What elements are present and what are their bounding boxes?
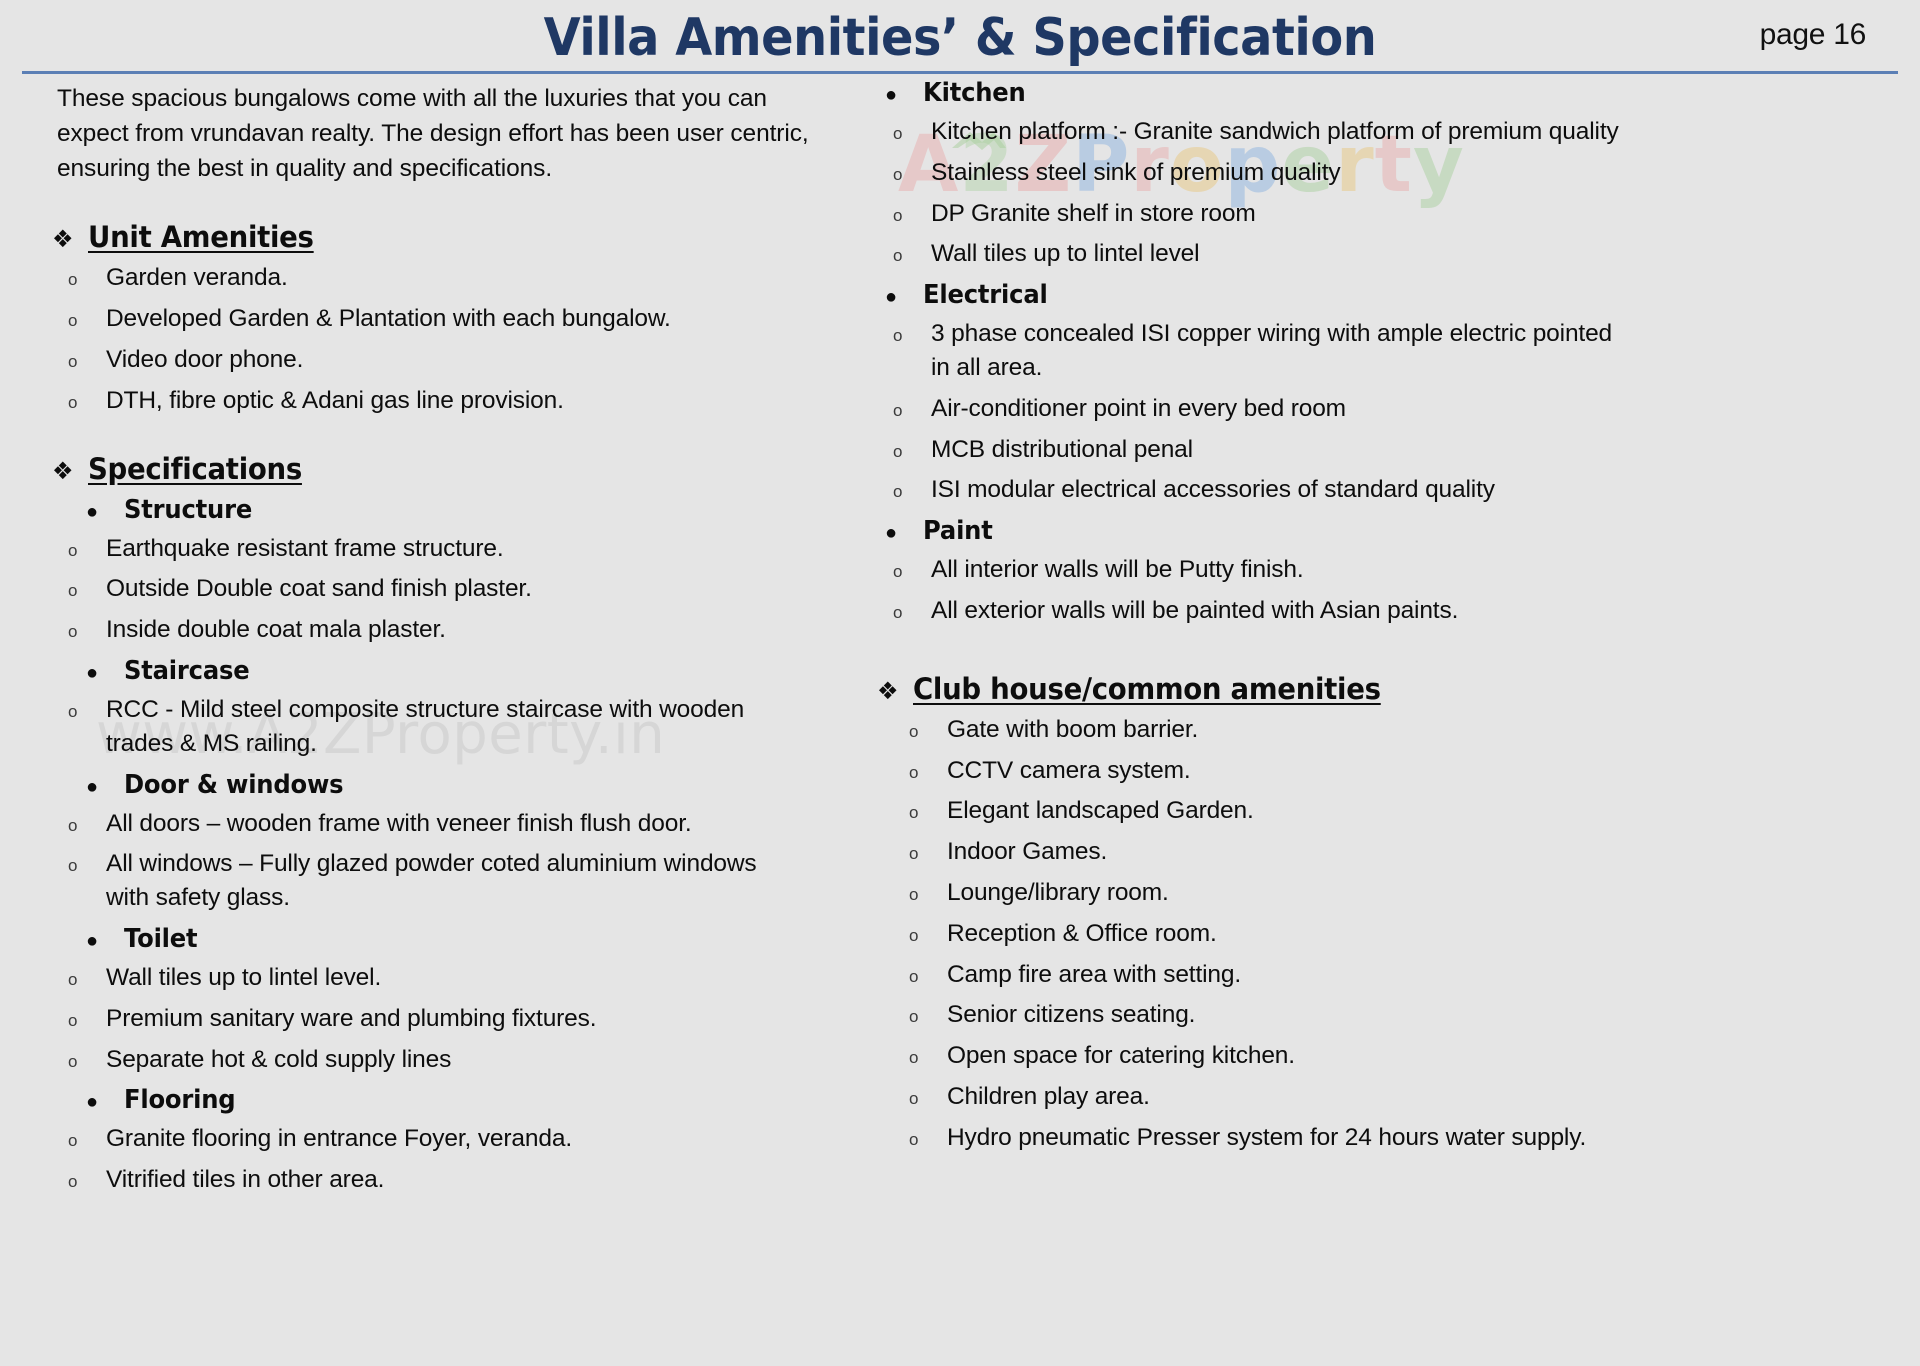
circle-bullet-icon: o bbox=[909, 723, 947, 740]
list-item-label: DTH, fibre optic & Adani gas line provis… bbox=[106, 384, 564, 418]
list-item: o Reception & Office room. bbox=[863, 917, 1920, 951]
intro-paragraph: These spacious bungalows come with all t… bbox=[57, 82, 757, 186]
list-item: o ISI modular electrical accessories of … bbox=[863, 473, 1920, 507]
subsection-heading-staircase: ● Staircase bbox=[52, 656, 845, 686]
circle-bullet-icon: o bbox=[893, 247, 931, 264]
list-item-label: Separate hot & cold supply lines bbox=[106, 1043, 451, 1077]
list-item: o Granite flooring in entrance Foyer, ve… bbox=[52, 1122, 845, 1156]
circle-bullet-icon: o bbox=[68, 353, 106, 370]
circle-bullet-icon: o bbox=[909, 886, 947, 903]
subsection-label: Kitchen bbox=[923, 78, 1026, 108]
list-item: o Outside Double coat sand finish plaste… bbox=[52, 572, 845, 606]
circle-bullet-icon: o bbox=[909, 927, 947, 944]
list-item-label: All interior walls will be Putty finish. bbox=[931, 553, 1304, 587]
disc-bullet-icon: ● bbox=[86, 502, 124, 522]
unit-amenities-heading-label: Unit Amenities bbox=[88, 220, 314, 254]
disc-bullet-icon: ● bbox=[86, 663, 124, 683]
list-item-label: Camp fire area with setting. bbox=[947, 958, 1241, 992]
circle-bullet-icon: o bbox=[68, 582, 106, 599]
subsection-heading-kitchen: ● Kitchen bbox=[863, 78, 1920, 108]
circle-bullet-icon: o bbox=[68, 271, 106, 288]
page-title: Villa Amenities’ & Specification bbox=[77, 0, 1843, 68]
circle-bullet-icon: o bbox=[909, 845, 947, 862]
subsection-label: Structure bbox=[124, 495, 252, 525]
list-item-label: All windows – Fully glazed powder coted … bbox=[106, 847, 786, 915]
list-item-label: Developed Garden & Plantation with each … bbox=[106, 302, 671, 336]
list-item: o Open space for catering kitchen. bbox=[863, 1039, 1920, 1073]
club-house-list: o Gate with boom barrier. o CCTV camera … bbox=[863, 713, 1920, 1155]
circle-bullet-icon: o bbox=[909, 1090, 947, 1107]
specifications-heading-label: Specifications bbox=[88, 452, 302, 486]
subsection-label: Door & windows bbox=[124, 770, 343, 800]
list-item: o Kitchen platform :- Granite sandwich p… bbox=[863, 115, 1920, 149]
disc-bullet-icon: ● bbox=[86, 777, 124, 797]
list-item-label: Vitrified tiles in other area. bbox=[106, 1163, 384, 1197]
list-item-label: Open space for catering kitchen. bbox=[947, 1039, 1295, 1073]
subsection-label: Flooring bbox=[124, 1085, 235, 1115]
list-item: o Stainless steel sink of premium qualit… bbox=[863, 156, 1920, 190]
subsection-label: Staircase bbox=[124, 656, 249, 686]
list-item: o Vitrified tiles in other area. bbox=[52, 1163, 845, 1197]
list-item: o Wall tiles up to lintel level bbox=[863, 237, 1920, 271]
list-item: o All exterior walls will be painted wit… bbox=[863, 594, 1920, 628]
list-item-label: Children play area. bbox=[947, 1080, 1150, 1114]
circle-bullet-icon: o bbox=[893, 207, 931, 224]
list-item: o DP Granite shelf in store room bbox=[863, 197, 1920, 231]
intro-line-2: expect from vrundavan realty. The design… bbox=[57, 117, 757, 152]
intro-line-3: ensuring the best in quality and specifi… bbox=[57, 152, 757, 187]
list-item-label: CCTV camera system. bbox=[947, 754, 1191, 788]
list-item: o Senior citizens seating. bbox=[863, 998, 1920, 1032]
list-item-label: Outside Double coat sand finish plaster. bbox=[106, 572, 532, 606]
list-item: o All doors – wooden frame with veneer f… bbox=[52, 807, 845, 841]
circle-bullet-icon: o bbox=[893, 443, 931, 460]
circle-bullet-icon: o bbox=[68, 312, 106, 329]
left-column: These spacious bungalows come with all t… bbox=[0, 78, 845, 1197]
list-item-label: Video door phone. bbox=[106, 343, 303, 377]
circle-bullet-icon: o bbox=[68, 971, 106, 988]
list-item-label: Granite flooring in entrance Foyer, vera… bbox=[106, 1122, 572, 1156]
list-item-label: Elegant landscaped Garden. bbox=[947, 794, 1254, 828]
intro-line-1: These spacious bungalows come with all t… bbox=[57, 82, 757, 117]
circle-bullet-icon: o bbox=[893, 483, 931, 500]
list-item-label: Lounge/library room. bbox=[947, 876, 1169, 910]
page-content: Villa Amenities’ & Specification These s… bbox=[0, 0, 1920, 68]
circle-bullet-icon: o bbox=[909, 1049, 947, 1066]
list-item-label: 3 phase concealed ISI copper wiring with… bbox=[931, 317, 1621, 385]
list-item-label: Wall tiles up to lintel level bbox=[931, 237, 1199, 271]
circle-bullet-icon: o bbox=[68, 1012, 106, 1029]
circle-bullet-icon: o bbox=[893, 604, 931, 621]
list-item-label: All doors – wooden frame with veneer fin… bbox=[106, 807, 692, 841]
subsection-label: Toilet bbox=[124, 924, 197, 954]
list-item-label: Premium sanitary ware and plumbing fixtu… bbox=[106, 1002, 596, 1036]
right-column: ● Kitchen o Kitchen platform :- Granite … bbox=[845, 78, 1920, 1197]
list-item-label: Air-conditioner point in every bed room bbox=[931, 392, 1346, 426]
section-heading-specifications: ❖ Specifications bbox=[52, 452, 845, 486]
list-item-label: MCB distributional penal bbox=[931, 433, 1193, 467]
circle-bullet-icon: o bbox=[68, 703, 106, 720]
subsection-label: Electrical bbox=[923, 280, 1048, 310]
subsection-heading-toilet: ● Toilet bbox=[52, 924, 845, 954]
list-item: o MCB distributional penal bbox=[863, 433, 1920, 467]
list-item-label: Earthquake resistant frame structure. bbox=[106, 532, 504, 566]
diamond-bullet-icon: ❖ bbox=[877, 679, 913, 703]
list-item: o Camp fire area with setting. bbox=[863, 958, 1920, 992]
list-item-label: RCC - Mild steel composite structure sta… bbox=[106, 693, 786, 761]
disc-bullet-icon: ● bbox=[86, 1092, 124, 1112]
section-heading-club-house: ❖ Club house/common amenities bbox=[863, 672, 1920, 706]
list-item: o Gate with boom barrier. bbox=[863, 713, 1920, 747]
list-item: o Lounge/library room. bbox=[863, 876, 1920, 910]
list-item-label: Indoor Games. bbox=[947, 835, 1107, 869]
list-item-label: Stainless steel sink of premium quality bbox=[931, 156, 1340, 190]
list-item-label: All exterior walls will be painted with … bbox=[931, 594, 1458, 628]
disc-bullet-icon: ● bbox=[885, 523, 923, 543]
list-item: o Hydro pneumatic Presser system for 24 … bbox=[863, 1121, 1920, 1155]
list-item: o Indoor Games. bbox=[863, 835, 1920, 869]
subsection-heading-flooring: ● Flooring bbox=[52, 1085, 845, 1115]
circle-bullet-icon: o bbox=[893, 402, 931, 419]
list-item-label: Hydro pneumatic Presser system for 24 ho… bbox=[947, 1121, 1586, 1155]
circle-bullet-icon: o bbox=[68, 542, 106, 559]
list-item: o Earthquake resistant frame structure. bbox=[52, 532, 845, 566]
subsection-heading-paint: ● Paint bbox=[863, 516, 1920, 546]
list-item: o RCC - Mild steel composite structure s… bbox=[52, 693, 845, 761]
list-item-label: Inside double coat mala plaster. bbox=[106, 613, 446, 647]
list-item-label: Garden veranda. bbox=[106, 261, 288, 295]
two-column-body: These spacious bungalows come with all t… bbox=[0, 78, 1920, 1197]
list-item-label: Reception & Office room. bbox=[947, 917, 1217, 951]
circle-bullet-icon: o bbox=[68, 857, 106, 874]
diamond-bullet-icon: ❖ bbox=[52, 227, 88, 251]
list-item: o Video door phone. bbox=[52, 343, 845, 377]
circle-bullet-icon: o bbox=[68, 1053, 106, 1070]
circle-bullet-icon: o bbox=[893, 125, 931, 142]
title-divider bbox=[22, 71, 1898, 74]
list-item-label: Wall tiles up to lintel level. bbox=[106, 961, 381, 995]
page-number: page 16 bbox=[1760, 18, 1866, 52]
list-item: o All windows – Fully glazed powder cote… bbox=[52, 847, 845, 915]
list-item-label: Gate with boom barrier. bbox=[947, 713, 1198, 747]
list-item: o Separate hot & cold supply lines bbox=[52, 1043, 845, 1077]
list-item: o All interior walls will be Putty finis… bbox=[863, 553, 1920, 587]
disc-bullet-icon: ● bbox=[885, 85, 923, 105]
circle-bullet-icon: o bbox=[909, 1008, 947, 1025]
list-item-label: ISI modular electrical accessories of st… bbox=[931, 473, 1495, 507]
list-item: o Air-conditioner point in every bed roo… bbox=[863, 392, 1920, 426]
circle-bullet-icon: o bbox=[909, 804, 947, 821]
list-item: o Wall tiles up to lintel level. bbox=[52, 961, 845, 995]
diamond-bullet-icon: ❖ bbox=[52, 459, 88, 483]
circle-bullet-icon: o bbox=[68, 623, 106, 640]
circle-bullet-icon: o bbox=[893, 166, 931, 183]
disc-bullet-icon: ● bbox=[86, 931, 124, 951]
list-item: o Inside double coat mala plaster. bbox=[52, 613, 845, 647]
circle-bullet-icon: o bbox=[909, 1131, 947, 1148]
club-house-heading-label: Club house/common amenities bbox=[913, 672, 1381, 706]
circle-bullet-icon: o bbox=[68, 1132, 106, 1149]
subsection-label: Paint bbox=[923, 516, 993, 546]
list-item: o Premium sanitary ware and plumbing fix… bbox=[52, 1002, 845, 1036]
circle-bullet-icon: o bbox=[909, 968, 947, 985]
list-item: o Children play area. bbox=[863, 1080, 1920, 1114]
subsection-heading-structure: ● Structure bbox=[52, 495, 845, 525]
circle-bullet-icon: o bbox=[893, 563, 931, 580]
circle-bullet-icon: o bbox=[68, 394, 106, 411]
circle-bullet-icon: o bbox=[893, 327, 931, 344]
list-item: o DTH, fibre optic & Adani gas line prov… bbox=[52, 384, 845, 418]
circle-bullet-icon: o bbox=[68, 1173, 106, 1190]
subsection-heading-door-windows: ● Door & windows bbox=[52, 770, 845, 800]
subsection-heading-electrical: ● Electrical bbox=[863, 280, 1920, 310]
circle-bullet-icon: o bbox=[909, 764, 947, 781]
list-item-label: DP Granite shelf in store room bbox=[931, 197, 1256, 231]
list-item-label: Kitchen platform :- Granite sandwich pla… bbox=[931, 115, 1619, 149]
circle-bullet-icon: o bbox=[68, 817, 106, 834]
list-item: o Elegant landscaped Garden. bbox=[863, 794, 1920, 828]
section-heading-unit-amenities: ❖ Unit Amenities bbox=[52, 220, 845, 254]
disc-bullet-icon: ● bbox=[885, 287, 923, 307]
brochure-page: A2ZProperty www.A2ZProperty.in Villa Ame… bbox=[0, 0, 1920, 1366]
list-item: o 3 phase concealed ISI copper wiring wi… bbox=[863, 317, 1920, 385]
list-item: o Developed Garden & Plantation with eac… bbox=[52, 302, 845, 336]
list-item: o CCTV camera system. bbox=[863, 754, 1920, 788]
list-item-label: Senior citizens seating. bbox=[947, 998, 1195, 1032]
list-item: o Garden veranda. bbox=[52, 261, 845, 295]
